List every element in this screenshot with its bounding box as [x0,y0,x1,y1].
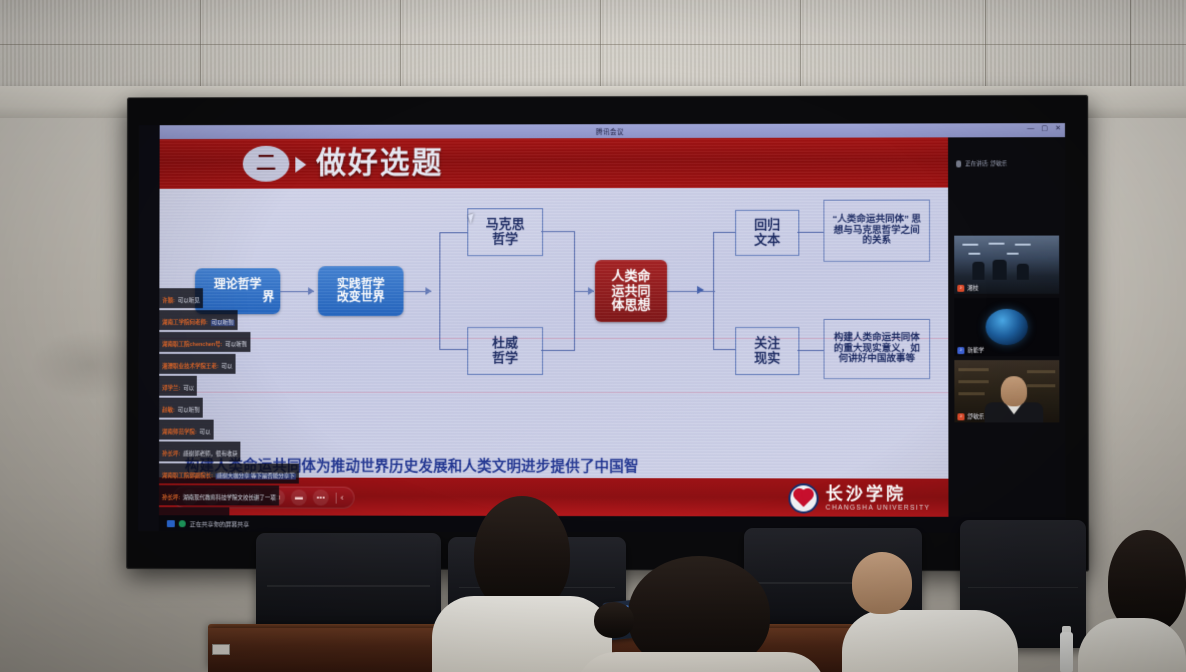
chat-text: 可以听到 [211,320,235,326]
more-button[interactable]: ••• [313,490,329,506]
node-line: 现实 [754,351,780,366]
participant-name: 湘枝 [967,284,978,292]
ceiling-grid-line [400,0,401,92]
chat-text: 可以听到 [225,342,247,348]
chat-sender: 孙长坪: [162,451,180,457]
slide-header: 二 做好选题 [160,137,949,188]
node-dewey-philosophy: 杜威 哲学 [467,327,543,375]
chat-sender: 湘潭职业技术学院王老: [162,364,218,370]
tile-name-badge: ♪ 舒敏乐 [957,412,984,420]
video-tile-earth[interactable]: ♪ 新能学 [954,298,1059,356]
chat-text: 可以听到 [178,408,200,414]
close-icon[interactable]: ✕ [1055,125,1061,133]
connector [797,350,823,351]
toolbar-divider [336,492,337,503]
node-line: 文本 [754,233,780,248]
chat-message: 湖南工学院何老师:可以听到 [159,310,237,330]
participant-name: 舒敏乐 [968,412,985,420]
chat-sender: 赵敏: [162,408,175,414]
minimize-icon[interactable]: — [1027,125,1034,133]
conference-room-photo: 显示桌面 腾讯会议 — ▢ ✕ 二 做好选题 [0,0,1186,672]
speaking-label: 正在讲话: 舒敏乐 [965,159,1007,167]
connector [797,232,823,233]
chat-text: 可以 [200,430,211,436]
connector [439,349,467,350]
water-bottle [1060,632,1073,672]
arrow-icon [308,287,314,295]
chat-message: 孙长坪:感谢郭老师，很有收获 [159,441,241,461]
tile-name-badge: ♪ 新能学 [957,346,984,354]
chat-message: 湖南职工院郭副院长:感谢大咖分享 等下是否能分享下 [159,463,299,483]
chat-sender: 邓学兰: [162,386,180,392]
share-banner-text: 正在共享你的屏幕共享 [190,519,250,528]
chat-message: 许颖:可以听见 [159,288,202,308]
chat-message: 孙长坪:湖南现代教育科技学院文校长讲了一项 [159,485,279,505]
audio-icon [179,520,186,527]
window-controls[interactable]: — ▢ ✕ [1027,125,1061,133]
desk-label-tag [212,644,230,655]
video-tile-room[interactable]: ♪ 湘枝 [954,236,1059,294]
chat-text: 感谢大咖分享 等下是否能分享下 [216,473,296,479]
connector [541,231,575,232]
text-box-significance: 构建人类命运共同体的重大现实意义，如何讲好中国故事等 [823,319,930,379]
chat-sender: 孙长坪: [162,495,180,501]
share-screen-icon [167,520,175,527]
node-line: 实践哲学 [337,278,385,291]
text-box-relation: “人类命运共同体” 思想与马克思哲学之间的关系 [823,200,930,262]
university-logo: 长沙学院 CHANGSHA UNIVERSITY [789,483,931,513]
ceiling-grid-line [600,0,601,92]
chat-sender: 湖南职工院郭副院长: [162,473,213,479]
mute-icon: ♪ [957,347,964,354]
chat-message: 湖南职工院chenchen号:可以听到 [159,332,250,352]
earth-avatar-icon [986,309,1028,345]
ceiling-texture [0,0,1186,92]
node-line: 改变世界 [337,291,385,304]
section-number-badge: 二 [243,146,290,182]
chat-overlay: 许颖:可以听见 湖南工学院何老师:可以听到 湖南职工院chenchen号:可以听… [159,288,308,517]
node-community-of-shared-future: 人类命 运共同 体思想 [595,260,667,322]
chat-text: 湖南现代教育科技学院文校长讲了一项 [183,495,276,501]
node-line: 体思想 [611,298,650,313]
node-line: 杜威 [492,336,518,351]
chat-message: 湖南师范学院:可以 [159,420,213,440]
logo-name-en: CHANGSHA UNIVERSITY [826,505,931,512]
chat-text: 可以 [221,364,232,370]
section-number: 二 [256,154,276,174]
chat-sender: 湖南工学院何老师: [162,320,207,326]
collapse-toolbar-button[interactable]: ‹ [341,493,344,503]
ceiling-grid-line [200,0,201,92]
arrow-icon [697,286,704,294]
node-line: 关注 [754,336,780,351]
ceiling-grid-line [985,0,986,92]
logo-emblem-icon [789,483,819,513]
connector [439,232,440,350]
chat-message: 邓学兰:可以 [159,376,197,396]
ceiling-grid-line [0,44,1186,45]
shared-slide: 二 做好选题 理论哲学 界 [159,137,949,516]
node-focus-on-reality: 关注 现实 [735,327,799,375]
screen-share-banner: 正在共享你的屏幕共享 [159,515,1066,533]
connector [439,232,467,233]
chat-sender: 湖南职工院chenchen号: [162,342,222,348]
node-return-to-text: 回归 文本 [735,210,799,256]
connector [713,232,735,233]
meeting-participants-panel: 正在讲话: 舒敏乐 ♪ 湘枝 [948,137,1066,533]
ceiling-grid-line [800,0,801,92]
connector [703,291,715,292]
chat-sender: 许颖: [162,298,175,304]
maximize-icon[interactable]: ▢ [1041,125,1048,133]
video-tile-speaker[interactable]: ♪ 舒敏乐 [954,360,1059,422]
node-line: 人类命 [611,269,650,284]
wall-display: 腾讯会议 — ▢ ✕ 二 做好选题 [126,95,1089,572]
node-line: 马克思 [486,218,525,233]
ceiling-grid-line [1130,0,1131,92]
ceiling [0,0,1186,92]
microphone-icon [956,160,961,167]
chat-message: 赵敏:可以听到 [159,398,202,418]
tile-name-badge: ♪ 湘枝 [957,284,978,292]
display-screen: 腾讯会议 — ▢ ✕ 二 做好选题 [138,123,1065,533]
speaker-head [1001,376,1027,406]
triangle-icon [295,157,306,173]
more-icon: ••• [317,494,325,502]
node-marx-philosophy: 马克思 哲学 [467,208,543,256]
slide-title: 做好选题 [316,144,443,182]
chair [256,533,441,633]
chat-text: 可以听见 [178,298,200,304]
node-line: 回归 [754,218,780,233]
heart-icon [795,490,812,507]
logo-name-cn: 长沙学院 [826,485,931,502]
mute-icon: ♪ [957,413,964,420]
chat-message: 湘潭职业技术学院王老:可以 [159,354,235,374]
arrow-icon [588,287,594,295]
window-title: 腾讯会议 [596,126,624,136]
chat-text: 可以 [183,386,194,392]
connector [541,350,575,351]
node-practice-philosophy: 实践哲学 改变世界 [318,266,404,316]
node-line: 哲学 [492,351,518,366]
chat-text: 感谢郭老师，很有收获 [183,451,238,457]
chat-sender: 湖南师范学院: [162,430,197,436]
mute-icon: ♪ [957,284,964,291]
arrow-icon [425,287,431,295]
node-line: 哲学 [492,232,518,247]
speaking-indicator: 正在讲话: 舒敏乐 [956,159,1007,167]
connector [713,349,735,350]
participant-name: 新能学 [967,346,984,354]
node-line: 运共同 [611,284,650,299]
